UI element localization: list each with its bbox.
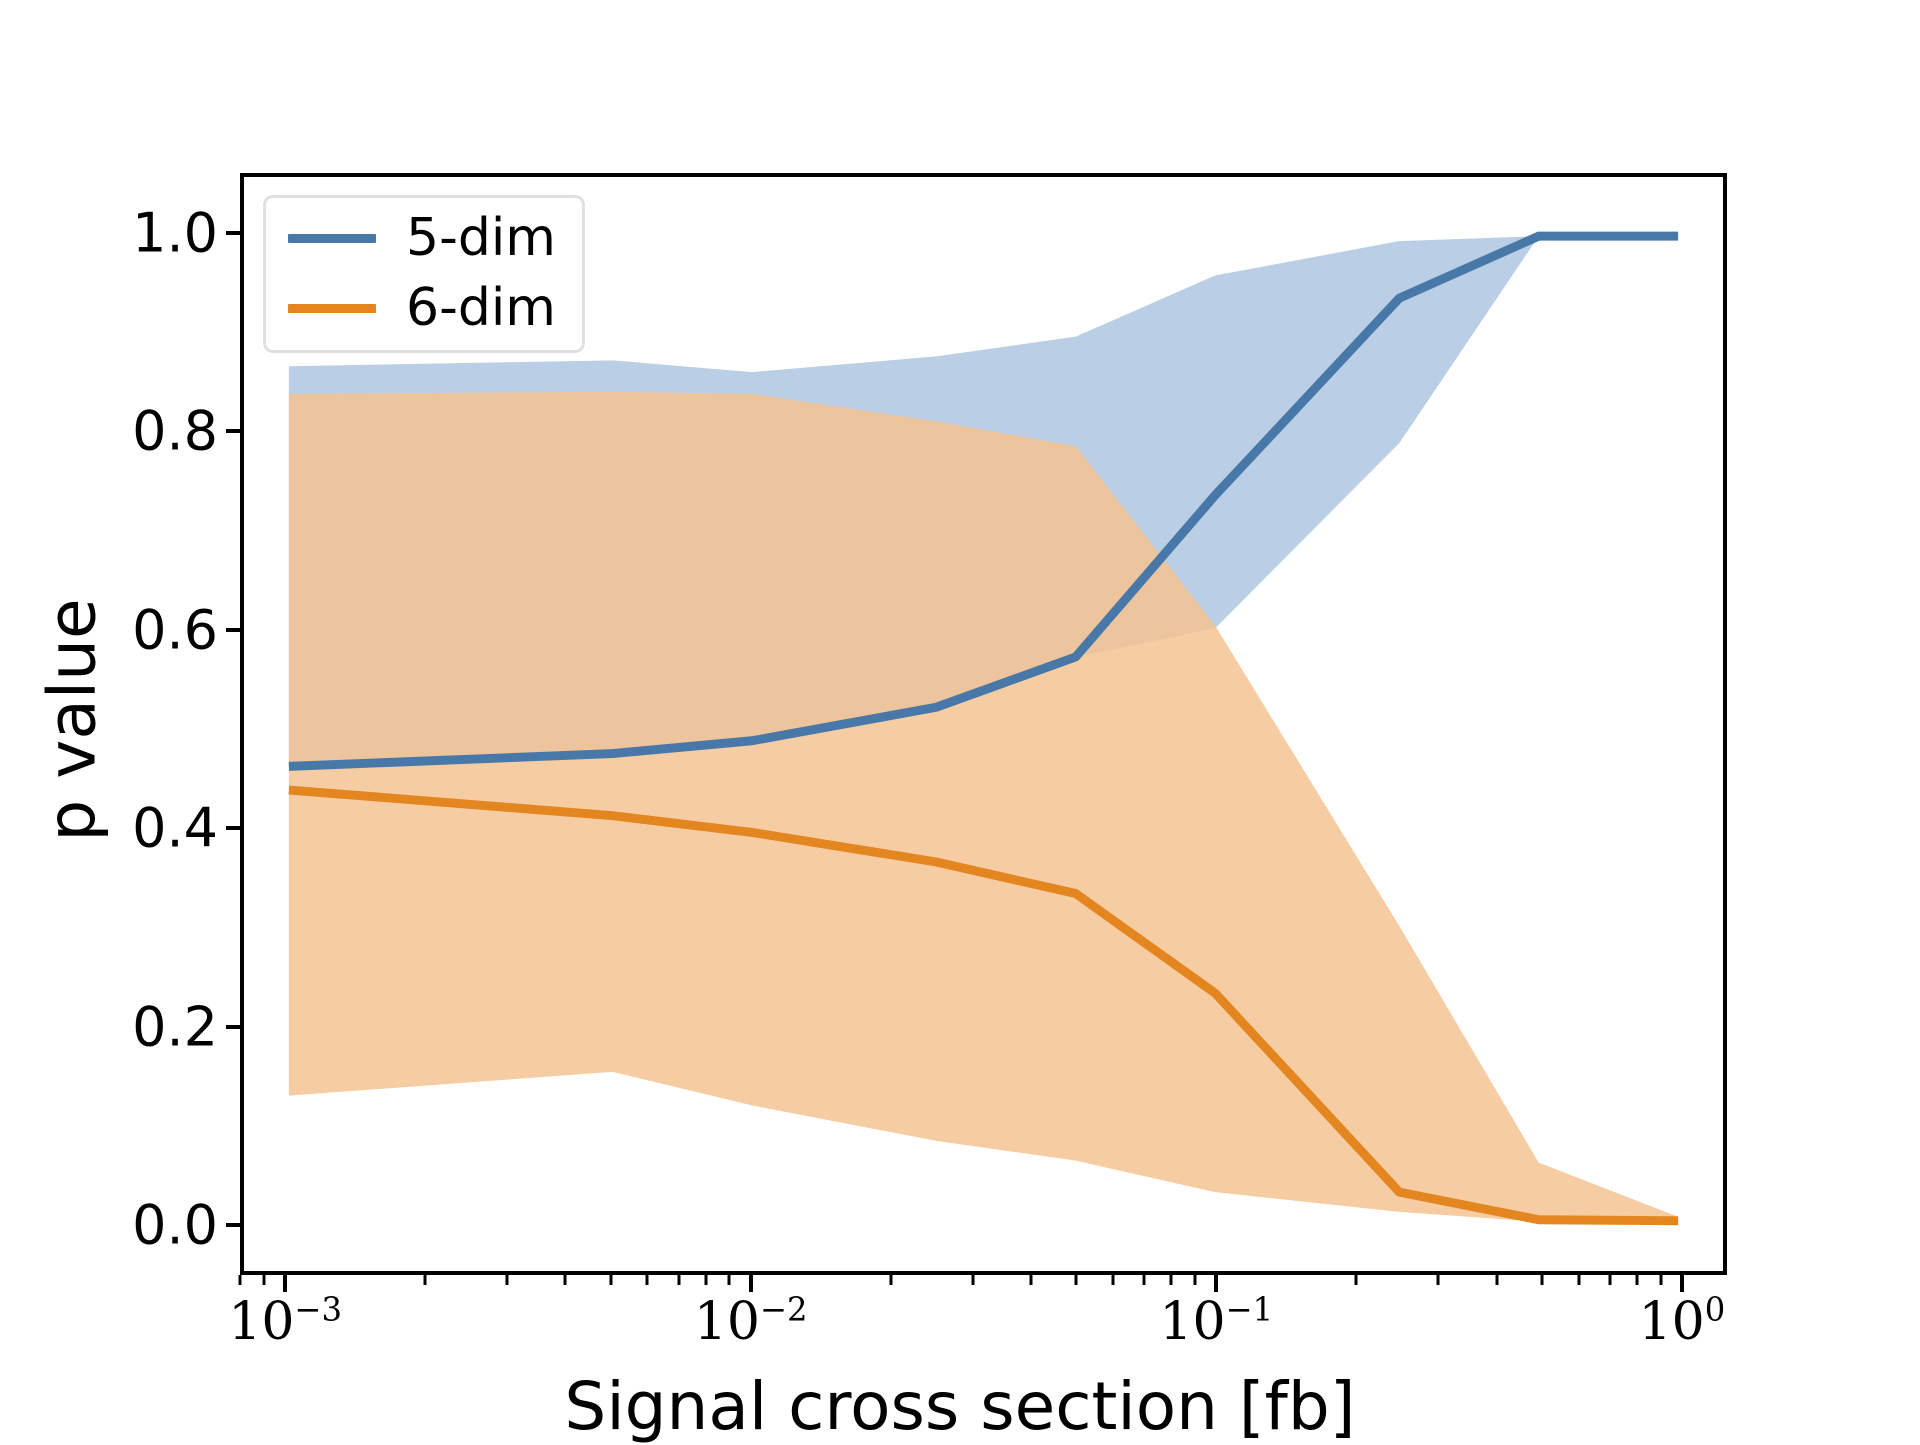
x-tick-mark [1214,1275,1218,1292]
x-minor-tick-mark [1112,1275,1115,1285]
x-minor-tick-mark [1659,1275,1662,1285]
figure-canvas: 0.00.20.40.60.81.0 10−310−210−1100 Signa… [0,0,1920,1440]
x-tick-mark [283,1275,287,1292]
x-tick-label: 10−2 [694,1292,808,1352]
x-minor-tick-mark [506,1275,509,1285]
legend-item-6-dim[interactable]: 6-dim [288,282,556,334]
y-tick-mark [226,826,240,830]
x-minor-tick-mark [677,1275,680,1285]
x-minor-tick-mark [424,1275,427,1285]
x-minor-tick-mark [704,1275,707,1285]
x-minor-tick-mark [262,1275,265,1285]
x-minor-tick-mark [1355,1275,1358,1285]
legend[interactable]: 5-dim 6-dim [263,195,585,353]
x-tick-label: 10−3 [228,1292,342,1352]
x-minor-tick-mark [1075,1275,1078,1285]
x-minor-tick-mark [609,1275,612,1285]
x-minor-tick-mark [1577,1275,1580,1285]
x-minor-tick-mark [1193,1275,1196,1285]
y-tick-mark [226,429,240,433]
x-minor-tick-mark [1170,1275,1173,1285]
x-minor-tick-mark [889,1275,892,1285]
x-axis-title: Signal cross section [fb] [0,1368,1920,1445]
y-axis-title: p value [34,420,111,1020]
x-minor-tick-mark [1030,1275,1033,1285]
x-minor-tick-mark [1495,1275,1498,1285]
x-tick-label: 10−1 [1159,1292,1273,1352]
x-minor-tick-mark [1437,1275,1440,1285]
y-tick-mark [226,231,240,235]
x-tick-mark [1680,1275,1684,1292]
y-tick-mark [226,1223,240,1227]
x-minor-tick-mark [1143,1275,1146,1285]
legend-item-5-dim[interactable]: 5-dim [288,212,556,264]
x-minor-tick-mark [1635,1275,1638,1285]
y-tick-mark [226,628,240,632]
y-tick-label: 1.0 [132,201,218,264]
x-tick-label: 100 [1639,1292,1726,1352]
x-minor-tick-mark [239,1275,242,1285]
y-tick-label: 0.6 [132,598,218,661]
x-minor-tick-mark [564,1275,567,1285]
y-tick-mark [226,1025,240,1029]
legend-swatch-5-dim [288,234,376,243]
legend-swatch-6-dim [288,304,376,313]
y-tick-label: 0.8 [132,400,218,463]
legend-label-6-dim: 6-dim [406,282,556,334]
y-tick-label: 0.0 [132,1194,218,1257]
x-minor-tick-mark [728,1275,731,1285]
legend-label-5-dim: 5-dim [406,212,556,264]
x-minor-tick-mark [1540,1275,1543,1285]
x-minor-tick-mark [971,1275,974,1285]
y-tick-label: 0.4 [132,797,218,860]
x-minor-tick-mark [1608,1275,1611,1285]
x-tick-mark [749,1275,753,1292]
x-minor-tick-mark [646,1275,649,1285]
y-tick-label: 0.2 [132,995,218,1058]
